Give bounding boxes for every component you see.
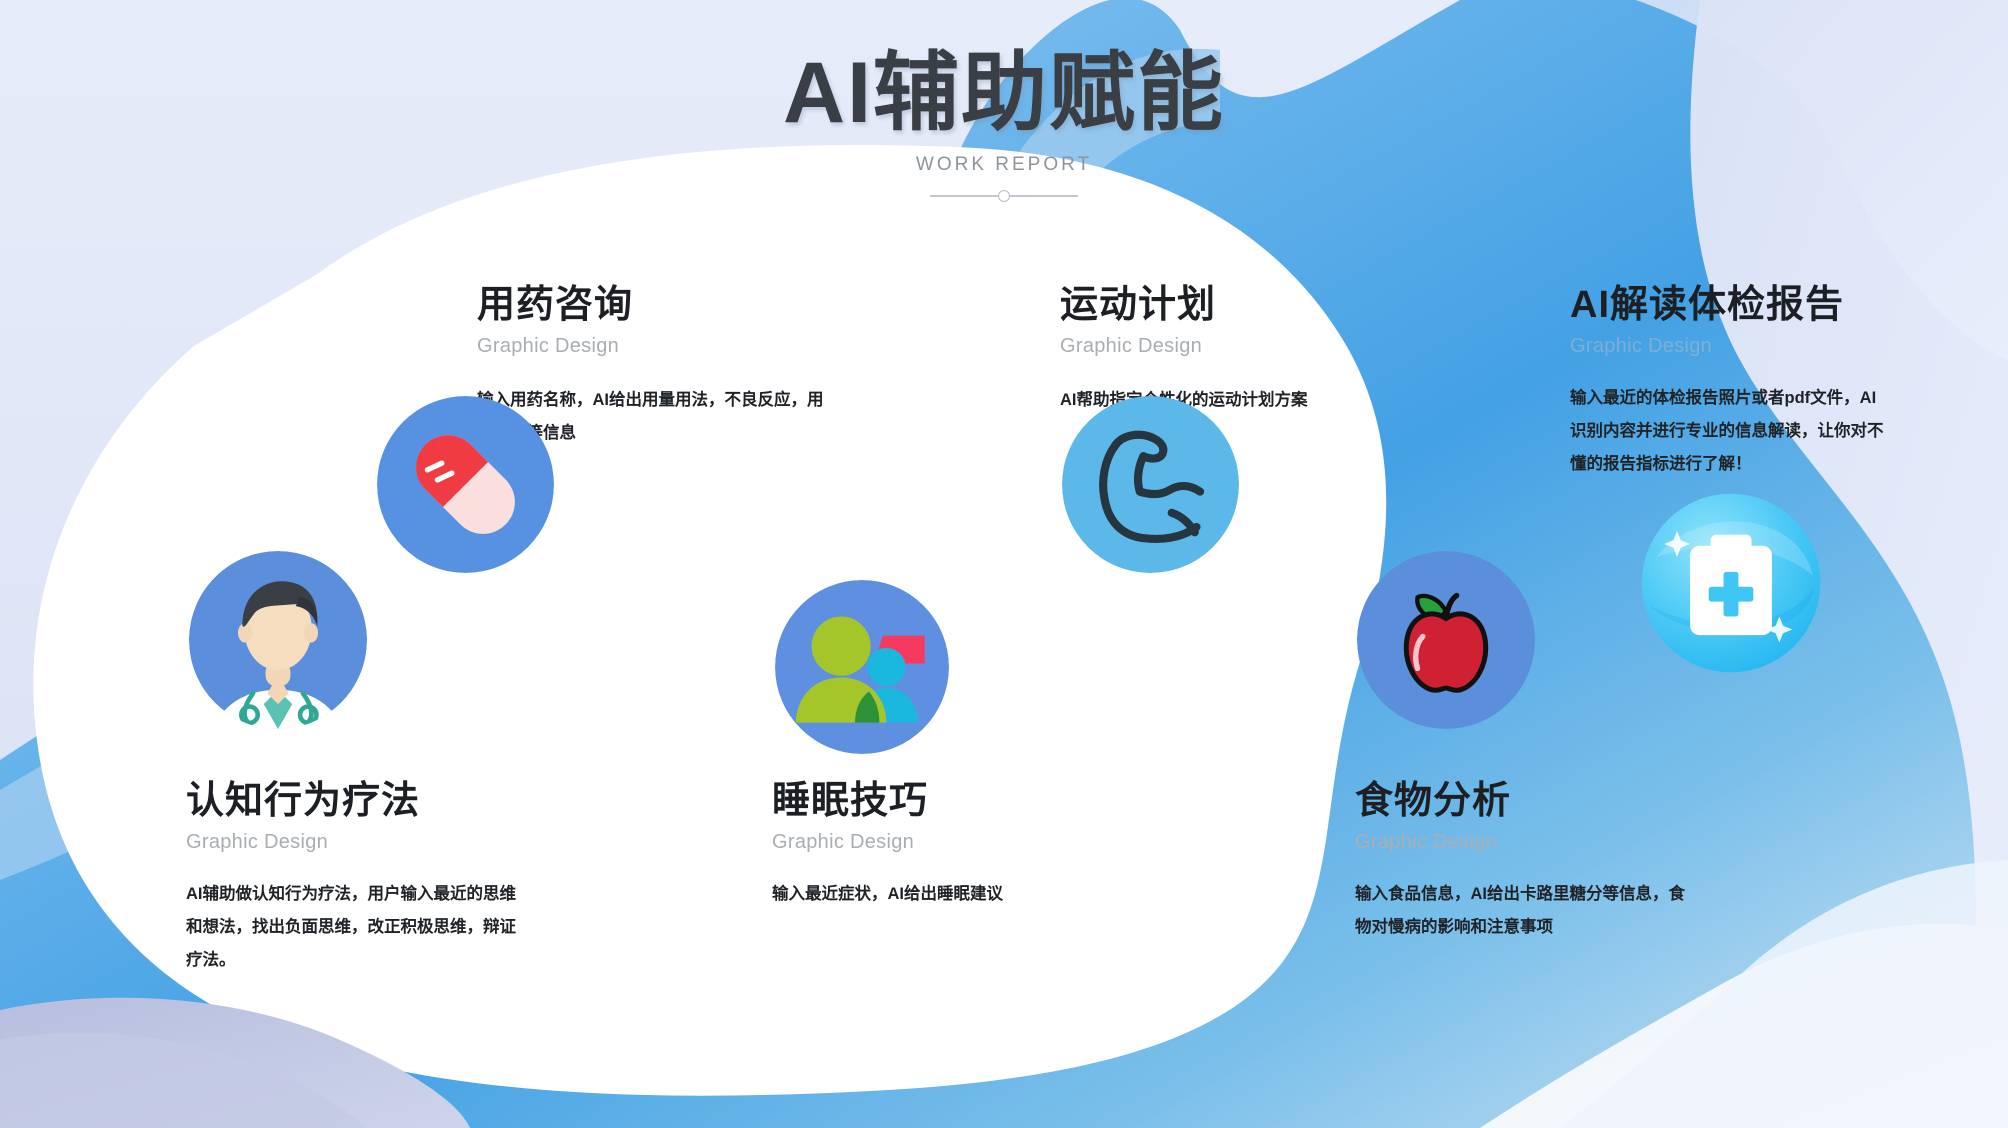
divider-dot-icon bbox=[998, 190, 1010, 202]
page-subtitle: WORK REPORT bbox=[0, 154, 2008, 176]
text-block-exercise-plan: 运动计划 Graphic Design AI帮助指定个性化的运动计划方案 bbox=[1060, 284, 1350, 417]
block-title: 运动计划 bbox=[1060, 284, 1350, 328]
apple-icon[interactable] bbox=[1357, 551, 1535, 729]
text-block-cognitive-behavioral-therapy: 认知行为疗法 Graphic Design AI辅助做认知行为疗法，用户输入最近… bbox=[186, 780, 516, 977]
slide-header: AI辅助赋能 WORK REPORT bbox=[0, 48, 2008, 202]
block-subtitle: Graphic Design bbox=[186, 831, 516, 854]
block-body: 输入最近的体检报告照片或者pdf文件，AI识别内容并进行专业的信息解读，让你对不… bbox=[1570, 382, 1890, 481]
block-subtitle: Graphic Design bbox=[477, 335, 837, 358]
block-subtitle: Graphic Design bbox=[1060, 335, 1350, 358]
block-body: 输入食品信息，AI给出卡路里糖分等信息，食物对慢病的影响和注意事项 bbox=[1355, 878, 1685, 944]
people-conversation-icon[interactable] bbox=[775, 580, 949, 754]
medical-clipboard-icon[interactable] bbox=[1638, 490, 1824, 676]
title-divider bbox=[930, 190, 1078, 202]
block-title: 食物分析 bbox=[1355, 780, 1685, 824]
block-title: AI解读体检报告 bbox=[1570, 284, 1890, 328]
block-body: AI辅助做认知行为疗法，用户输入最近的思维和想法，找出负面思维，改正积极思维，辩… bbox=[186, 878, 516, 977]
flexed-bicep-icon[interactable] bbox=[1062, 396, 1239, 573]
text-block-sleep-techniques: 睡眠技巧 Graphic Design 输入最近症状，AI给出睡眠建议 bbox=[772, 780, 1072, 911]
doctor-avatar-icon[interactable] bbox=[189, 551, 367, 729]
pill-icon[interactable] bbox=[377, 396, 554, 573]
text-block-ai-health-report: AI解读体检报告 Graphic Design 输入最近的体检报告照片或者pdf… bbox=[1570, 284, 1890, 481]
block-subtitle: Graphic Design bbox=[1570, 335, 1890, 358]
block-title: 认知行为疗法 bbox=[186, 780, 516, 824]
slide-canvas: AI辅助赋能 WORK REPORT 用药咨询 Graphic Design 输… bbox=[0, 0, 2008, 1128]
block-subtitle: Graphic Design bbox=[1355, 831, 1685, 854]
block-body: 输入最近症状，AI给出睡眠建议 bbox=[772, 878, 1072, 911]
block-title: 用药咨询 bbox=[477, 284, 837, 328]
page-title: AI辅助赋能 bbox=[0, 48, 2008, 138]
text-block-food-analysis: 食物分析 Graphic Design 输入食品信息，AI给出卡路里糖分等信息，… bbox=[1355, 780, 1685, 944]
block-subtitle: Graphic Design bbox=[772, 831, 1072, 854]
block-title: 睡眠技巧 bbox=[772, 780, 1072, 824]
